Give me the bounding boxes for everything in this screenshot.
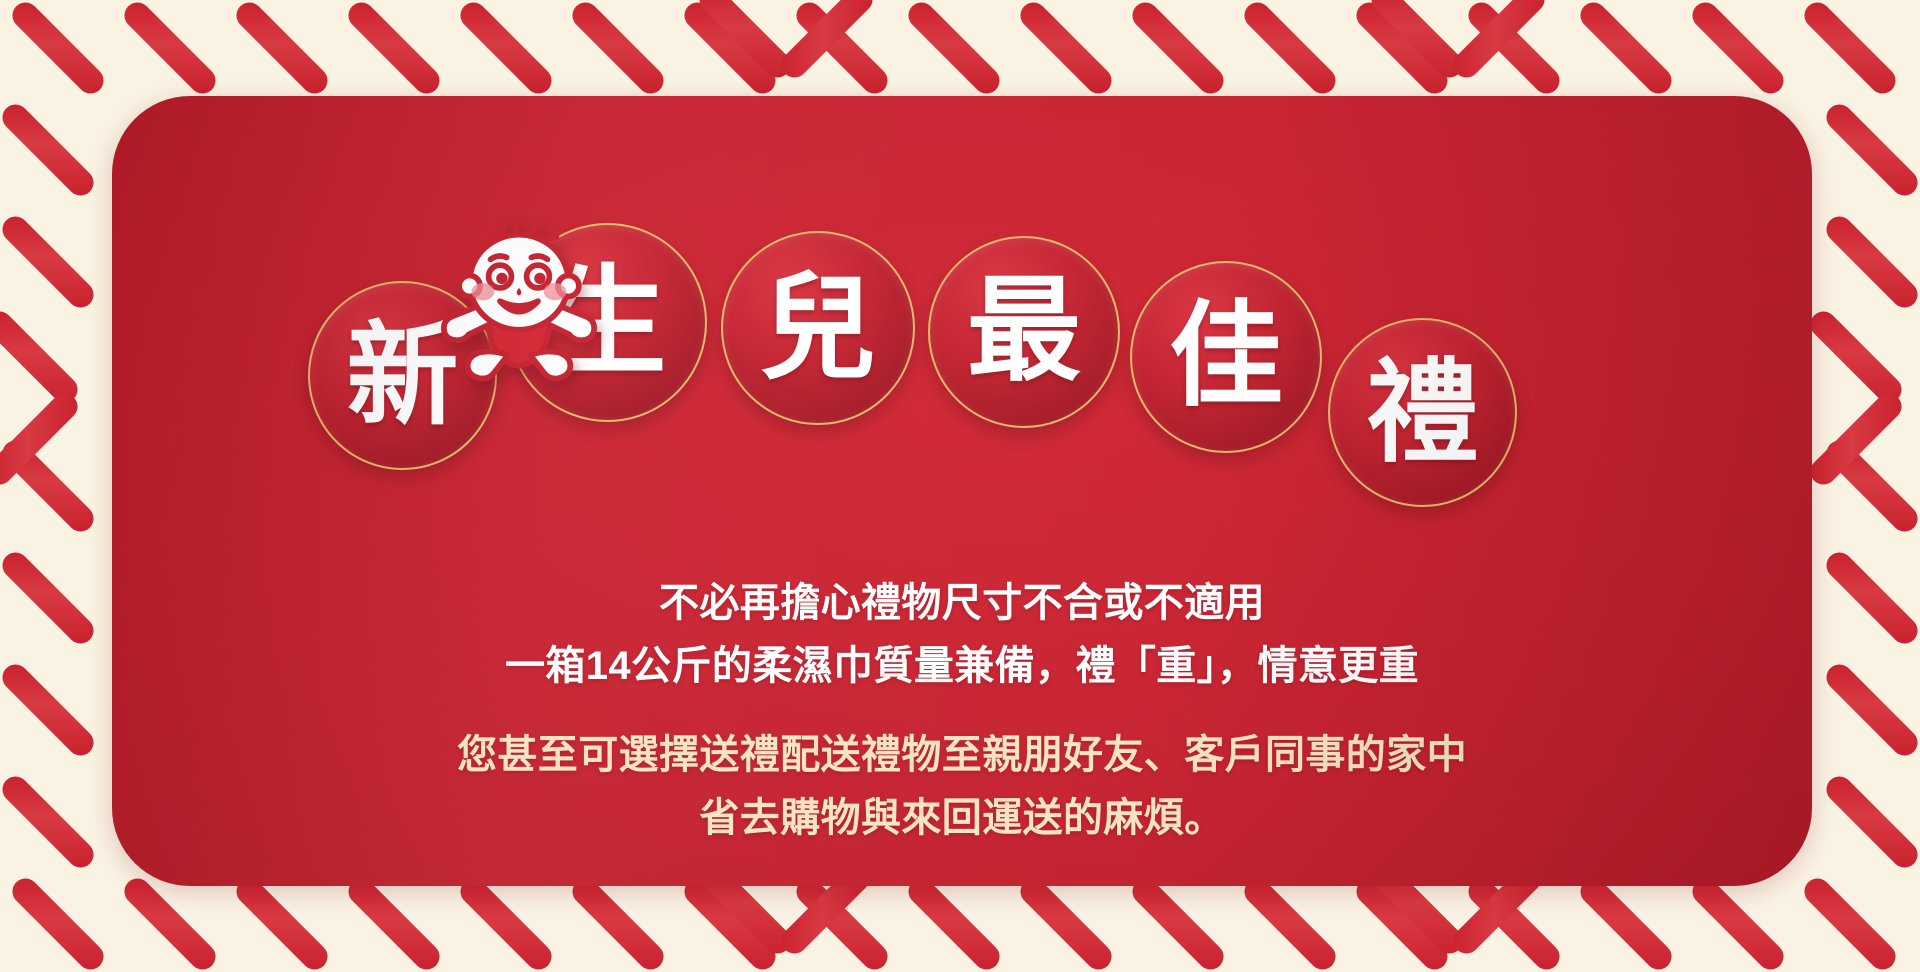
decorative-dash — [343, 0, 445, 99]
decorative-dash — [231, 873, 333, 972]
decorative-dash — [0, 547, 99, 649]
decorative-dash — [7, 873, 109, 972]
decorative-dash — [1448, 0, 1550, 83]
decorative-dash — [1821, 547, 1920, 649]
decorative-dash — [1015, 0, 1117, 99]
decorative-dash — [1805, 388, 1907, 490]
headline-badge-char: 最 — [967, 275, 1081, 389]
decorative-dash — [1687, 873, 1789, 972]
decorative-dash — [1575, 0, 1677, 99]
decorative-dash — [231, 0, 333, 99]
decorative-dash — [0, 435, 99, 537]
decorative-dash — [791, 873, 893, 972]
decorative-dash — [7, 0, 109, 99]
decorative-dash — [455, 0, 557, 99]
decorative-dash — [1799, 0, 1901, 99]
copy-line-1: 不必再擔心禮物尺寸不合或不適用 — [112, 572, 1812, 635]
decorative-dash — [903, 873, 1005, 972]
decorative-dash — [1687, 0, 1789, 99]
decorative-dash — [567, 873, 669, 972]
decorative-dash — [1239, 873, 1341, 972]
decorative-dash — [776, 0, 878, 83]
decorative-dash — [1127, 0, 1229, 99]
decorative-dash — [343, 873, 445, 972]
headline-badge-char: 兒 — [760, 270, 876, 386]
decorative-dash — [0, 388, 83, 490]
decorative-dash — [119, 0, 221, 99]
red-card-panel: 新生兒最佳禮 — [112, 96, 1812, 886]
decorative-dash — [1821, 211, 1920, 313]
decorative-dash — [791, 0, 893, 99]
decorative-dash — [679, 873, 781, 972]
body-copy: 不必再擔心禮物尺寸不合或不適用 一箱14公斤的柔濕巾質量兼備，禮「重」，情意更重… — [112, 572, 1812, 850]
decorative-dash — [1351, 873, 1453, 972]
decorative-dash — [1821, 771, 1920, 873]
decorative-dash — [679, 0, 781, 99]
copy-group-primary: 不必再擔心禮物尺寸不合或不適用 一箱14公斤的柔濕巾質量兼備，禮「重」，情意更重 — [112, 572, 1812, 698]
copy-line-4: 省去購物與來回運送的麻煩。 — [112, 787, 1812, 850]
decorative-dash — [1799, 873, 1901, 972]
decorative-dash — [0, 771, 99, 873]
decorative-dash — [1366, 0, 1468, 83]
decorative-dash — [1239, 0, 1341, 99]
headline-badge-char: 禮 — [1367, 357, 1479, 469]
decorative-dash — [0, 99, 99, 201]
decorative-dash — [567, 0, 669, 99]
decorative-dash — [694, 0, 796, 83]
copy-line-3: 您甚至可選擇送禮配送禮物至親朋好友、客戶同事的家中 — [112, 724, 1812, 787]
headline-badge-3: 兒 — [721, 231, 915, 425]
decorative-dash — [1463, 873, 1565, 972]
baby-mascot-icon — [424, 210, 614, 400]
decorative-dash — [1821, 99, 1920, 201]
decorative-dash — [0, 211, 99, 313]
decorative-dash — [1463, 0, 1565, 99]
headline-badge-4: 最 — [928, 236, 1120, 428]
decorative-dash — [119, 873, 221, 972]
copy-line-2: 一箱14公斤的柔濕巾質量兼備，禮「重」，情意更重 — [112, 635, 1812, 698]
decorative-dash — [1805, 306, 1907, 408]
decorative-dash — [1015, 873, 1117, 972]
headline-badge-char: 佳 — [1169, 300, 1283, 414]
decorative-dash — [455, 873, 557, 972]
decorative-dash — [1351, 0, 1453, 99]
headline-badge-6: 禮 — [1328, 318, 1517, 507]
decorative-dash — [1821, 659, 1920, 761]
decorative-dash — [1821, 435, 1920, 537]
copy-group-secondary: 您甚至可選擇送禮配送禮物至親朋好友、客戶同事的家中 省去購物與來回運送的麻煩。 — [112, 724, 1812, 850]
decorative-dash — [1127, 873, 1229, 972]
decorative-dash — [903, 0, 1005, 99]
decorative-dash — [1575, 873, 1677, 972]
headline-badge-5: 佳 — [1130, 261, 1322, 453]
decorative-dash — [0, 659, 99, 761]
decorative-dash — [0, 306, 83, 408]
promo-banner: 新生兒最佳禮 — [0, 0, 1920, 972]
